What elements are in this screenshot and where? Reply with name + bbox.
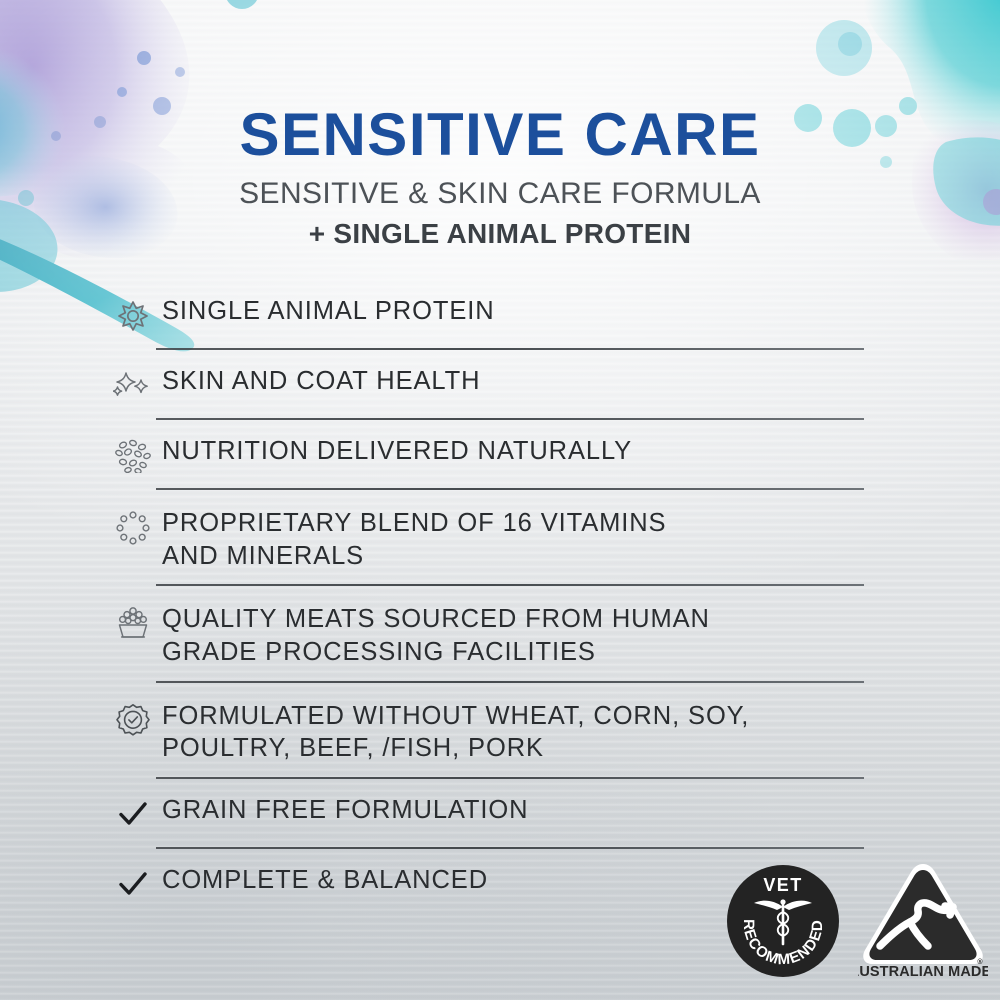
vitamin-ring-icon (104, 504, 162, 550)
starburst-icon (104, 292, 162, 338)
checkmark-icon (104, 861, 162, 907)
feature-label: PROPRIETARY BLEND OF 16 VITAMINS AND MIN… (162, 504, 864, 572)
feature-label: GRAIN FREE FORMULATION (162, 791, 864, 827)
feature-label: NUTRITION DELIVERED NATURALLY (162, 432, 864, 468)
vet-badge-top-text: VET (763, 875, 802, 895)
feature-item-nutrition-delivered-naturally: NUTRITION DELIVERED NATURALLY (104, 420, 864, 490)
registered-trademark-icon: ® (977, 958, 983, 966)
vet-recommended-badge: VET RECOMMENDED (724, 862, 842, 980)
subtitle-line-2: + SINGLE ANIMAL PROTEIN (0, 218, 1000, 250)
feature-item-skin-and-coat-health: SKIN AND COAT HEALTH (104, 350, 864, 420)
feature-item-quality-meats: QUALITY MEATS SOURCED FROM HUMAN GRADE P… (104, 586, 864, 682)
feature-label: FORMULATED WITHOUT WHEAT, CORN, SOY, POU… (162, 697, 864, 765)
sparkles-icon (104, 362, 162, 408)
feature-item-grain-free-formulation: GRAIN FREE FORMULATION (104, 779, 864, 849)
feature-item-vitamin-blend: PROPRIETARY BLEND OF 16 VITAMINS AND MIN… (104, 490, 864, 586)
feature-label: SINGLE ANIMAL PROTEIN (162, 292, 864, 328)
food-bowl-icon (104, 600, 162, 646)
feature-item-single-animal-protein: SINGLE ANIMAL PROTEIN (104, 292, 864, 350)
header-block: SENSITIVE CARE SENSITIVE & SKIN CARE FOR… (0, 104, 1000, 250)
triangle-shape (869, 870, 976, 960)
australian-made-badge: AUSTRALIAN MADE ® (858, 860, 988, 980)
certification-badges: VET RECOMMENDED (724, 860, 988, 980)
feature-item-formulated-without: FORMULATED WITHOUT WHEAT, CORN, SOY, POU… (104, 683, 864, 779)
feature-label: QUALITY MEATS SOURCED FROM HUMAN GRADE P… (162, 600, 864, 668)
kibble-scatter-icon (104, 432, 162, 478)
australian-made-label: AUSTRALIAN MADE (858, 964, 988, 980)
rosette-check-icon (104, 697, 162, 743)
checkmark-icon (104, 791, 162, 837)
page-title: SENSITIVE CARE (0, 104, 1000, 165)
feature-list: SINGLE ANIMAL PROTEIN SKIN AND COAT HEAL… (104, 292, 864, 919)
feature-label: SKIN AND COAT HEALTH (162, 362, 864, 398)
subtitle-line-1: SENSITIVE & SKIN CARE FORMULA (0, 177, 1000, 211)
product-feature-panel: SENSITIVE CARE SENSITIVE & SKIN CARE FOR… (0, 0, 1000, 1000)
